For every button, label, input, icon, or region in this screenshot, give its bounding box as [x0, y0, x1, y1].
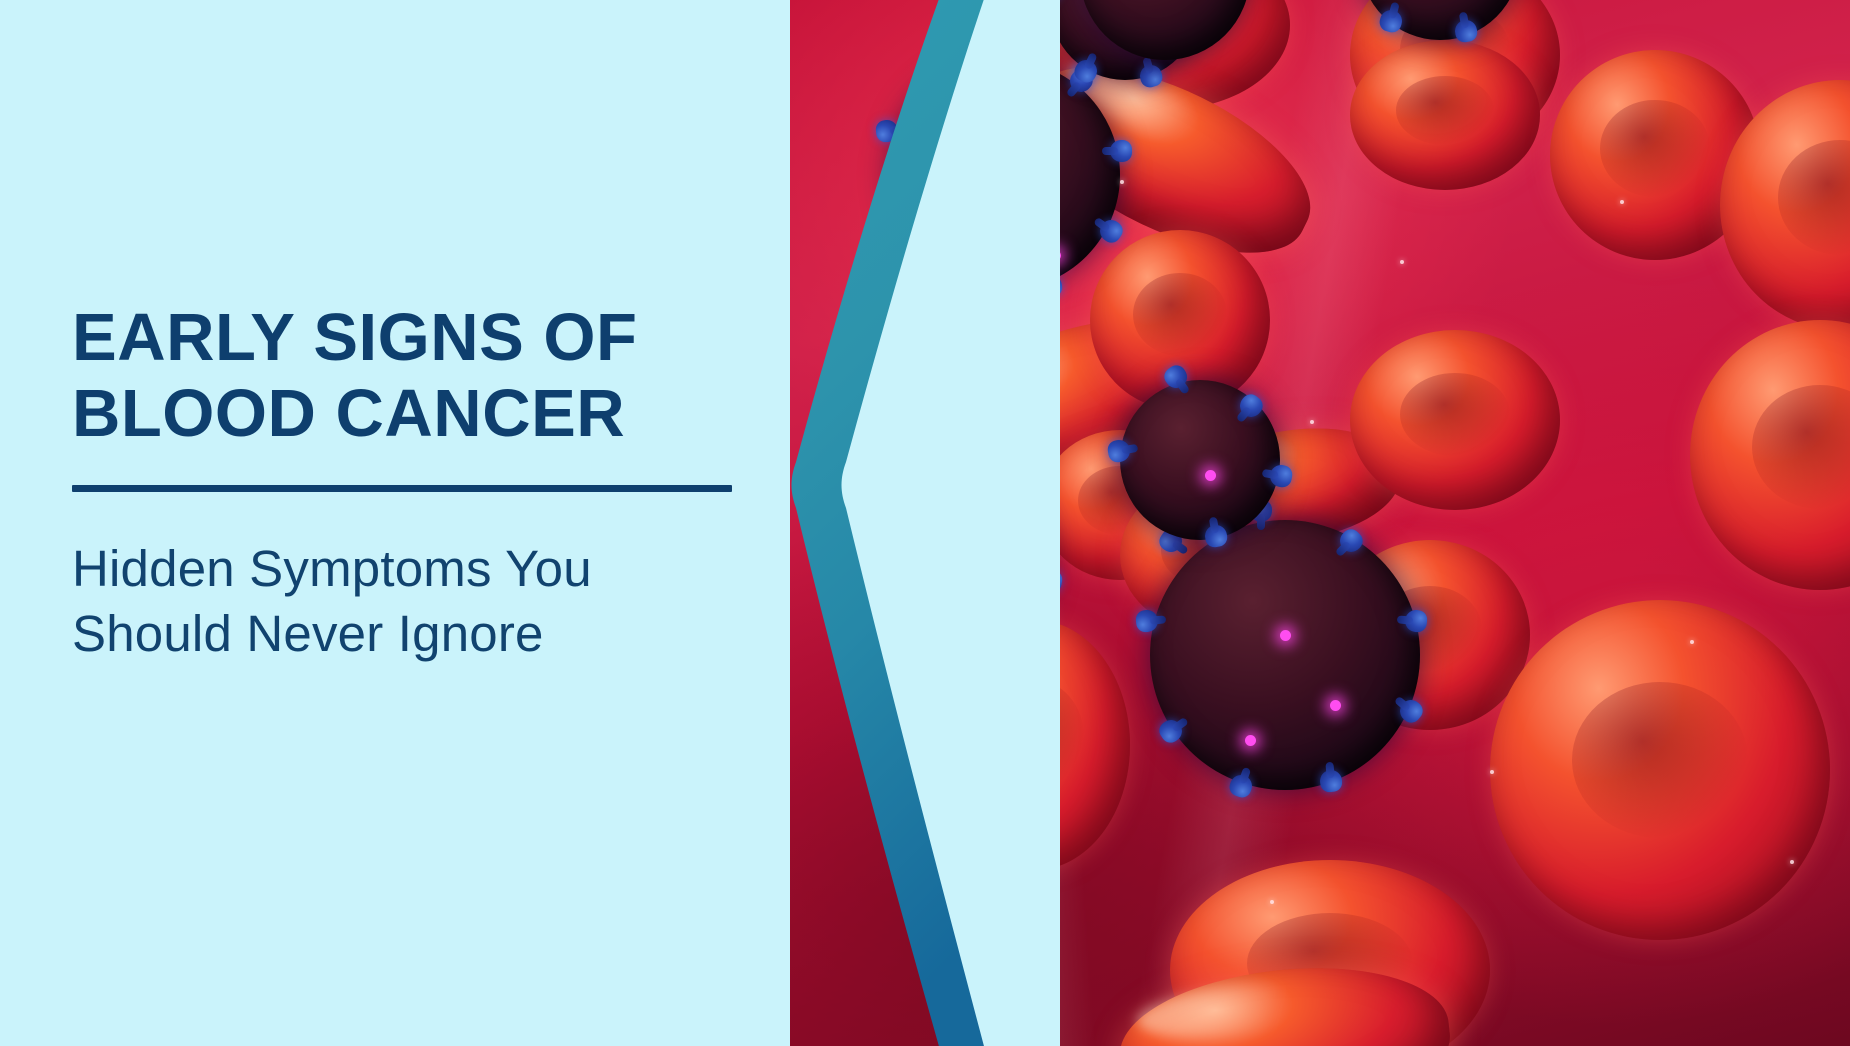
virus-glow-dot [1050, 250, 1061, 261]
virus-particle [850, 460, 1050, 660]
plasma-speck [1790, 860, 1794, 864]
virus-glow-dot [1010, 205, 1021, 216]
plasma-speck [1620, 200, 1624, 204]
red-blood-cell [1350, 330, 1560, 510]
plasma-speck [1120, 180, 1124, 184]
page-title: EARLY SIGNS OF BLOOD CANCER [72, 300, 772, 453]
plasma-speck [980, 300, 984, 304]
virus-spike-protein-icon [1000, 40, 1022, 62]
plasma-speck [1690, 640, 1694, 644]
red-blood-cell [1350, 40, 1540, 190]
plasma-speck [940, 720, 944, 724]
virus-glow-dot [1280, 630, 1291, 641]
virus-spike-protein-icon [1110, 140, 1132, 162]
plasma-speck [1400, 260, 1404, 264]
blood-cancer-banner: EARLY SIGNS OF BLOOD CANCER Hidden Sympt… [0, 0, 1850, 1046]
plasma-speck [1490, 770, 1494, 774]
virus-glow-dot [1205, 470, 1216, 481]
page-subtitle: Hidden Symptoms You Should Never Ignore [72, 536, 772, 667]
plasma-speck [1040, 560, 1044, 564]
headline-block: EARLY SIGNS OF BLOOD CANCER Hidden Sympt… [72, 300, 772, 666]
virus-particle [1120, 380, 1280, 540]
virus-spike-protein-icon [835, 529, 859, 553]
red-blood-cell [1490, 600, 1830, 940]
plasma-speck [1270, 900, 1274, 904]
virus-glow-dot [1330, 700, 1341, 711]
virus-particle [890, 60, 1120, 290]
blood-cells-image [790, 0, 1850, 1046]
title-divider-rule [72, 485, 732, 492]
virus-particle [1150, 520, 1420, 790]
plasma-speck [1310, 420, 1314, 424]
virus-glow-dot [1245, 735, 1256, 746]
virus-spike-protein-icon [944, 441, 968, 465]
virus-glow-dot [950, 620, 961, 631]
